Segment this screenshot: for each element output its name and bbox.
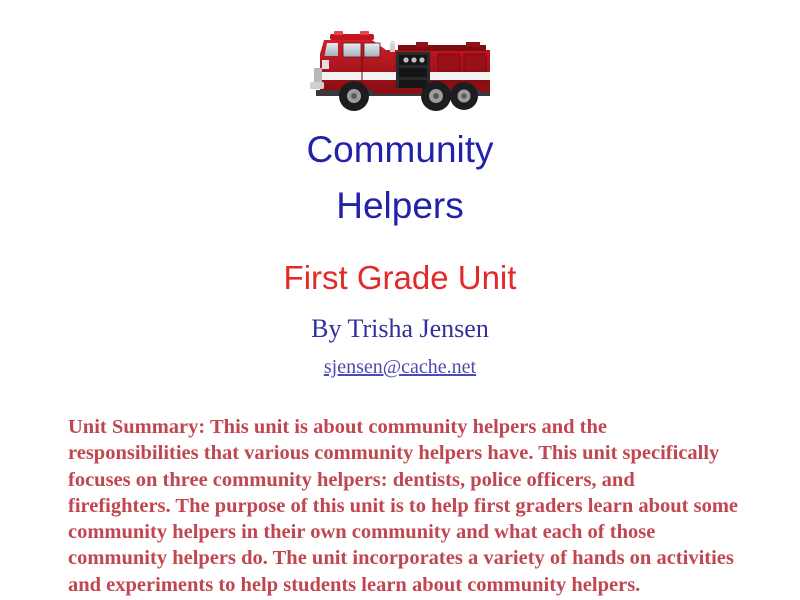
page-subtitle: First Grade Unit bbox=[0, 258, 800, 298]
unit-summary-paragraph: Unit Summary: This unit is about communi… bbox=[68, 414, 740, 598]
title-line-1: Community bbox=[0, 122, 800, 178]
page-title: Community Helpers bbox=[0, 122, 800, 234]
author-email-link[interactable]: sjensen@cache.net bbox=[324, 356, 476, 378]
document-page: Community Helpers First Grade Unit By Tr… bbox=[0, 0, 800, 600]
email-row: sjensen@cache.net bbox=[0, 354, 800, 380]
title-line-2: Helpers bbox=[0, 178, 800, 234]
author-byline: By Trisha Jensen bbox=[0, 313, 800, 345]
fire-truck-icon bbox=[298, 24, 502, 120]
fire-truck-image-container bbox=[0, 24, 800, 120]
